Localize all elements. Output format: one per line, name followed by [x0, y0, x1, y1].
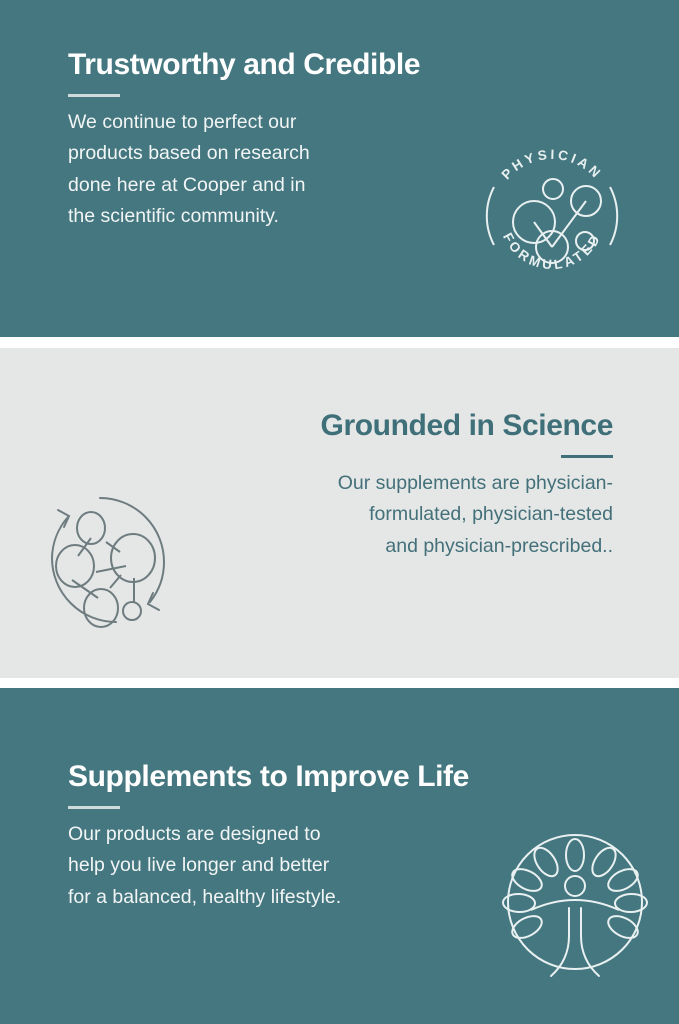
- panel-1-heading: Trustworthy and Credible: [68, 49, 420, 81]
- panel-1-body-line: done here at Cooper and in: [68, 174, 305, 196]
- panel-2-heading: Grounded in Science: [321, 410, 613, 442]
- panel-1-body: We continue to perfect our products base…: [68, 107, 420, 233]
- panel-separator: [0, 337, 679, 348]
- molecule-cycle-icon: [28, 480, 188, 640]
- panel-2-body-line: Our supplements are physician-: [338, 472, 613, 494]
- panel-2-body: Our supplements are physician- formulate…: [321, 468, 613, 563]
- panel-1-body-line: products based on research: [68, 142, 310, 164]
- tree-person-icon: [501, 824, 649, 980]
- panel-3-heading: Supplements to Improve Life: [68, 761, 469, 793]
- panel-separator: [0, 678, 679, 688]
- panel-2-body-line: formulated, physician-tested: [369, 503, 613, 525]
- physician-formulated-badge-icon: PHYSICIAN FORMULATED: [473, 137, 631, 295]
- panel-1-copy-block: Trustworthy and Credible We continue to …: [68, 49, 420, 233]
- panel-1-body-line: We continue to perfect our: [68, 111, 296, 133]
- panel-1-body-line: the scientific community.: [68, 205, 279, 227]
- panel-3-body: Our products are designed to help you li…: [68, 819, 469, 914]
- panel-2-copy-block: Grounded in Science Our supplements are …: [321, 410, 613, 562]
- badge-bottom-text: FORMULATED: [500, 230, 604, 272]
- promotional-panel-stack: Trustworthy and Credible We continue to …: [0, 0, 679, 1024]
- panel-trustworthy-and-credible: Trustworthy and Credible We continue to …: [0, 0, 679, 337]
- panel-2-divider: [561, 455, 613, 458]
- badge-top-text: PHYSICIAN: [499, 147, 606, 183]
- panel-3-body-line: help you live longer and better: [68, 854, 329, 876]
- panel-3-body-line: Our products are designed to: [68, 823, 321, 845]
- panel-1-divider: [68, 94, 120, 97]
- panel-3-divider: [68, 806, 120, 809]
- panel-3-body-line: for a balanced, healthy lifestyle.: [68, 886, 341, 908]
- panel-3-copy-block: Supplements to Improve Life Our products…: [68, 761, 469, 913]
- panel-2-body-line: and physician-prescribed..: [385, 535, 613, 557]
